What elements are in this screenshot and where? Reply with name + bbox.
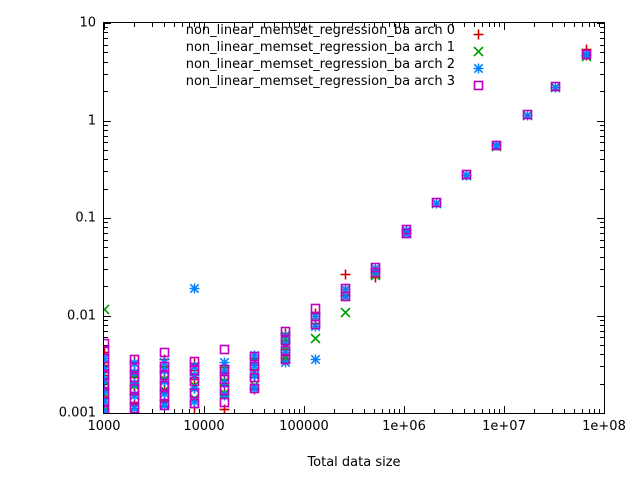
data-point-series-2 xyxy=(189,283,200,294)
data-point-series-3 xyxy=(219,364,230,375)
data-point-series-3 xyxy=(189,398,200,409)
data-point-series-3 xyxy=(219,374,230,385)
data-point-series-3 xyxy=(129,354,140,365)
data-point-series-3 xyxy=(249,351,260,362)
data-point-series-3 xyxy=(189,388,200,399)
data-point-series-3 xyxy=(249,372,260,383)
data-point-series-3 xyxy=(129,393,140,404)
data-point-series-3 xyxy=(189,356,200,367)
data-point-series-3 xyxy=(431,197,442,208)
legend-entry: non_linear_memset_regression_ba arch 1 xyxy=(170,39,535,56)
legend-entry: non_linear_memset_regression_ba arch 0 xyxy=(170,22,535,39)
data-point-series-3 xyxy=(129,383,140,394)
data-point-series-3 xyxy=(159,370,170,381)
legend-label: non_linear_memset_regression_ba arch 0 xyxy=(186,22,455,39)
y-tick-label: 10 xyxy=(20,16,96,31)
data-point-series-2 xyxy=(310,354,321,365)
data-point-series-3 xyxy=(280,326,291,337)
data-point-series-3 xyxy=(219,385,230,396)
x-tick-major-top xyxy=(604,23,605,30)
y-tick-major-right xyxy=(597,413,604,414)
data-point-series-3 xyxy=(370,262,381,273)
legend-entry: non_linear_memset_regression_ba arch 2 xyxy=(170,56,535,73)
data-point-series-3 xyxy=(280,345,291,356)
x-tick-label: 100000 xyxy=(279,419,329,434)
x-tick-label: 1000 xyxy=(87,419,120,434)
x-tick-label: 10000 xyxy=(183,419,224,434)
data-point-series-0 xyxy=(340,269,351,280)
data-point-series-3 xyxy=(189,365,200,376)
legend-entry: non_linear_memset_regression_ba arch 3 xyxy=(170,73,535,90)
data-point-series-3 xyxy=(401,224,412,235)
legend-marker-cross xyxy=(465,39,505,56)
data-point-series-3 xyxy=(129,372,140,383)
data-point-series-3 xyxy=(159,361,170,372)
data-point-series-3 xyxy=(159,347,170,358)
x-tick-label: 1e+07 xyxy=(482,419,526,434)
data-point-series-3 xyxy=(219,397,230,408)
data-point-series-1 xyxy=(340,307,351,318)
data-point-series-3 xyxy=(104,338,110,349)
data-point-series-3 xyxy=(159,380,170,391)
data-point-series-3 xyxy=(104,388,110,399)
data-point-series-1 xyxy=(310,333,321,344)
data-point-series-3 xyxy=(249,383,260,394)
data-point-series-1 xyxy=(104,304,110,315)
data-point-series-3 xyxy=(461,169,472,180)
data-point-series-3 xyxy=(159,400,170,411)
legend-label: non_linear_memset_regression_ba arch 1 xyxy=(186,39,455,56)
legend-marker-square xyxy=(465,73,505,90)
data-point-series-3 xyxy=(581,49,592,60)
data-point-series-3 xyxy=(159,390,170,401)
legend-marker-plus xyxy=(465,22,505,39)
y-tick-label: 0.1 xyxy=(20,211,96,226)
data-point-series-3 xyxy=(189,376,200,387)
x-axis-title: Total data size xyxy=(307,455,400,470)
gnuplot-chart: Execution time (ms) Total data size 0.00… xyxy=(0,0,640,480)
x-tick-major xyxy=(604,406,605,413)
legend-label: non_linear_memset_regression_ba arch 3 xyxy=(186,73,455,90)
data-point-series-3 xyxy=(249,361,260,372)
data-point-series-3 xyxy=(340,283,351,294)
y-tick-label: 0.01 xyxy=(20,309,96,324)
data-point-series-3 xyxy=(550,81,561,92)
y-tick-label: 0.001 xyxy=(20,406,96,421)
x-tick-label: 1e+08 xyxy=(582,419,626,434)
x-tick-label: 1e+06 xyxy=(382,419,426,434)
legend-marker-star xyxy=(465,56,505,73)
legend-label: non_linear_memset_regression_ba arch 2 xyxy=(186,56,455,73)
y-tick-label: 1 xyxy=(20,114,96,129)
data-point-series-3 xyxy=(310,303,321,314)
data-point-series-3 xyxy=(219,344,230,355)
y-tick-major xyxy=(104,413,111,414)
chart-legend: non_linear_memset_regression_ba arch 0 n… xyxy=(170,22,535,90)
data-point-series-3 xyxy=(104,370,110,381)
data-point-series-3 xyxy=(491,140,502,151)
data-point-series-3 xyxy=(522,109,533,120)
data-point-series-3 xyxy=(280,354,291,365)
